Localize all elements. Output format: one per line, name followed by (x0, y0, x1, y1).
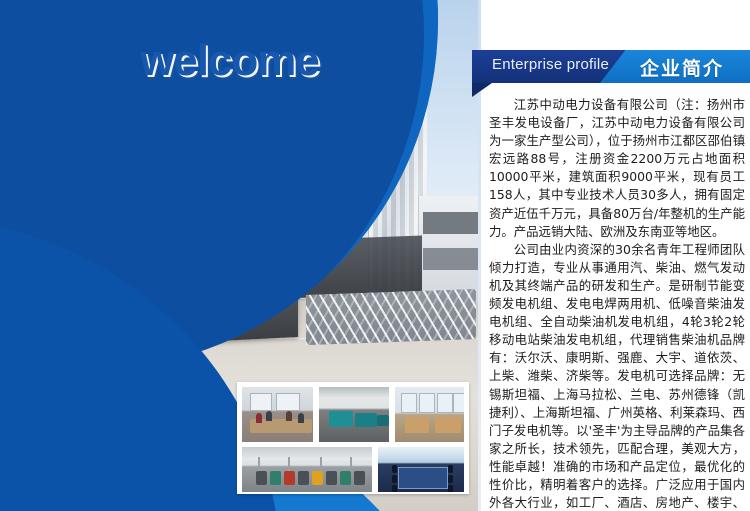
far-right-building (418, 196, 482, 302)
photo-conference-hall (377, 446, 465, 493)
company-profile-slide: 中动电力 (0, 0, 750, 511)
welcome-wordmark: welcome (140, 36, 319, 86)
photo-warehouse-gensets (241, 446, 373, 493)
banner-english-label: Enterprise profile (492, 56, 609, 73)
photo-collage (237, 382, 469, 494)
hero-photo-panel: 中动电力 (0, 0, 482, 511)
company-profile-text: 江苏中动电力设备有限公司（注：扬州市圣丰发电设备厂，江苏中动电力设备有限公司为一… (489, 96, 745, 511)
enterprise-profile-banner: Enterprise profile 企业简介 (472, 50, 750, 83)
photo-generator-workshop (318, 386, 389, 443)
photo-meeting-room (241, 386, 314, 443)
collage-row-top (241, 386, 465, 443)
retractable-gate (306, 289, 476, 345)
profile-paragraph-2: 公司由业内资深的30余名青年工程师团队倾力打造，专业从事通用汽、柴油、燃气发动机… (489, 241, 745, 511)
banner-chinese-label: 企业简介 (640, 54, 724, 81)
photo-office (394, 386, 465, 443)
collage-row-bottom (241, 446, 465, 493)
profile-paragraph-1: 江苏中动电力设备有限公司（注：扬州市圣丰发电设备厂，江苏中动电力设备有限公司为一… (489, 96, 745, 241)
